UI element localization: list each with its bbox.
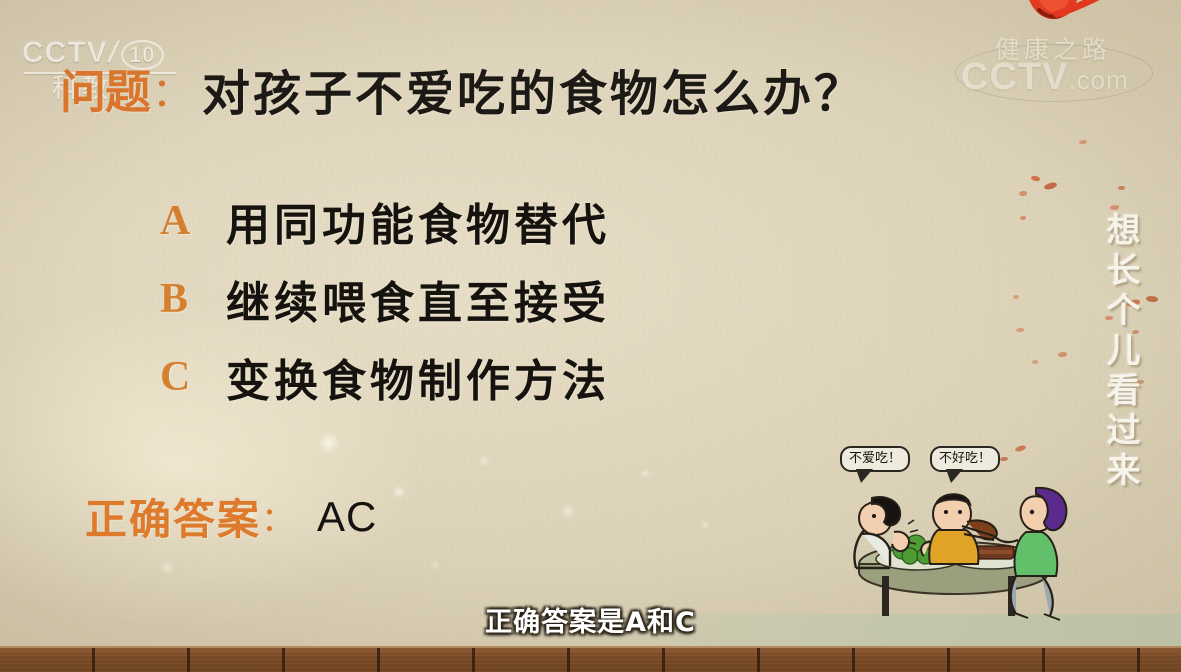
- subtitle-caption: 正确答案是A和C: [0, 600, 1181, 639]
- option-a[interactable]: A 用同功能食物替代: [160, 182, 920, 260]
- speech-bubble-left: 不爱吃！: [840, 446, 910, 472]
- option-a-text: 用同功能食物替代: [226, 189, 610, 253]
- wood-grain-texture: [0, 648, 1181, 672]
- correct-answer-row: 正确答案 ： AC: [85, 486, 377, 547]
- option-b-letter: B: [160, 275, 226, 323]
- options-list: A 用同功能食物替代 B 继续喂食直至接受 C 变换食物制作方法: [160, 182, 920, 416]
- option-c[interactable]: C 变换食物制作方法: [160, 338, 920, 416]
- question-row: 问题 ： 对孩子不爱吃的食物怎么办？: [60, 58, 1020, 120]
- option-c-text: 变换食物制作方法: [226, 345, 610, 409]
- tv-broadcast-frame: 健康之路 CCTV.com CCTV/10 科教 问题 ： 对孩子不爱吃的食物怎…: [0, 0, 1181, 672]
- wooden-floor-strip: [0, 646, 1181, 672]
- option-c-letter: C: [160, 353, 226, 401]
- answer-value: AC: [317, 493, 377, 541]
- option-b-text: 继续喂食直至接受: [226, 267, 610, 331]
- question-label: 问题: [60, 56, 150, 122]
- speech-bubble-right: 不好吃！: [930, 446, 1000, 472]
- option-b[interactable]: B 继续喂食直至接受: [160, 260, 920, 338]
- answer-colon: ：: [261, 492, 295, 541]
- question-text: 对孩子不爱吃的食物怎么办？: [202, 54, 865, 124]
- question-colon: ：: [152, 60, 192, 118]
- option-a-letter: A: [160, 197, 226, 245]
- answer-label: 正确答案: [85, 486, 261, 547]
